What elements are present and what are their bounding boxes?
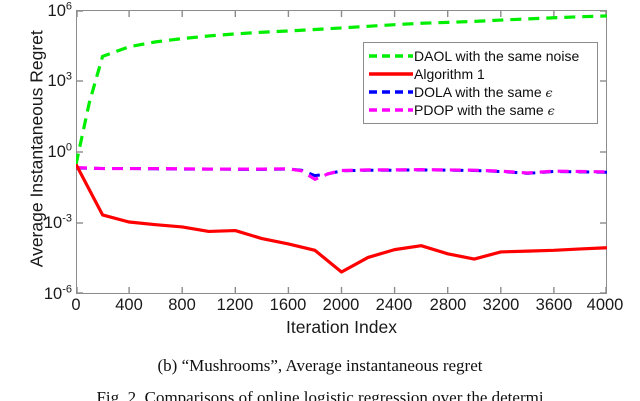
chart-legend: DAOL with the same noise Algorithm 1 DOL… (363, 42, 598, 124)
x-tick-label-1200: 1200 (217, 297, 254, 314)
legend-item-pdop[interactable]: PDOP with the same ϵ (368, 101, 592, 119)
y-axis-title: Average Instantaneous Regret (28, 4, 46, 294)
epsilon-symbol-pdop: ϵ (548, 103, 555, 118)
legend-item-daol[interactable]: DAOL with the same noise (368, 47, 592, 65)
figure-footer-text: Fig. 2. Comparisons of online logistic r… (0, 389, 640, 401)
legend-label-daol: DAOL with the same noise (414, 49, 579, 63)
legend-item-algorithm-1[interactable]: Algorithm 1 (368, 65, 592, 83)
series-line-pdop-with-the-same-epsilon (76, 168, 607, 180)
x-tick-label-4000: 4000 (587, 297, 624, 314)
x-tick-label-2000: 2000 (323, 297, 360, 314)
legend-swatch-dola-dashed-icon (368, 85, 414, 99)
legend-label-dola: DOLA with the same ϵ (414, 85, 553, 100)
x-tick-label-400: 400 (115, 297, 143, 314)
x-tick-label-0: 0 (71, 297, 80, 314)
legend-label-pdop: PDOP with the same ϵ (414, 103, 555, 118)
x-tick-label-3600: 3600 (536, 297, 573, 314)
legend-swatch-pdop-dashed-icon (368, 103, 414, 117)
legend-swatch-algorithm1-solid-icon (368, 67, 414, 81)
legend-swatch-daol-dashed-icon (368, 49, 414, 63)
legend-label-algorithm-1: Algorithm 1 (414, 67, 485, 81)
x-tick-label-1600: 1600 (270, 297, 307, 314)
x-tick-label-2400: 2400 (376, 297, 413, 314)
x-tick-label-800: 800 (168, 297, 196, 314)
x-tick-label-2800: 2800 (430, 297, 467, 314)
x-axis-title: Iteration Index (76, 319, 607, 337)
x-tick-label-3200: 3200 (483, 297, 520, 314)
series-line-algorithm-1 (76, 164, 607, 272)
legend-item-dola[interactable]: DOLA with the same ϵ (368, 83, 592, 101)
figure-panel: 106 103 100 10-3 10-6 0 400 800 1200 160… (0, 0, 640, 401)
epsilon-symbol-dola: ϵ (546, 85, 553, 100)
figure-caption: (b) “Mushrooms”, Average instantaneous r… (0, 357, 640, 376)
